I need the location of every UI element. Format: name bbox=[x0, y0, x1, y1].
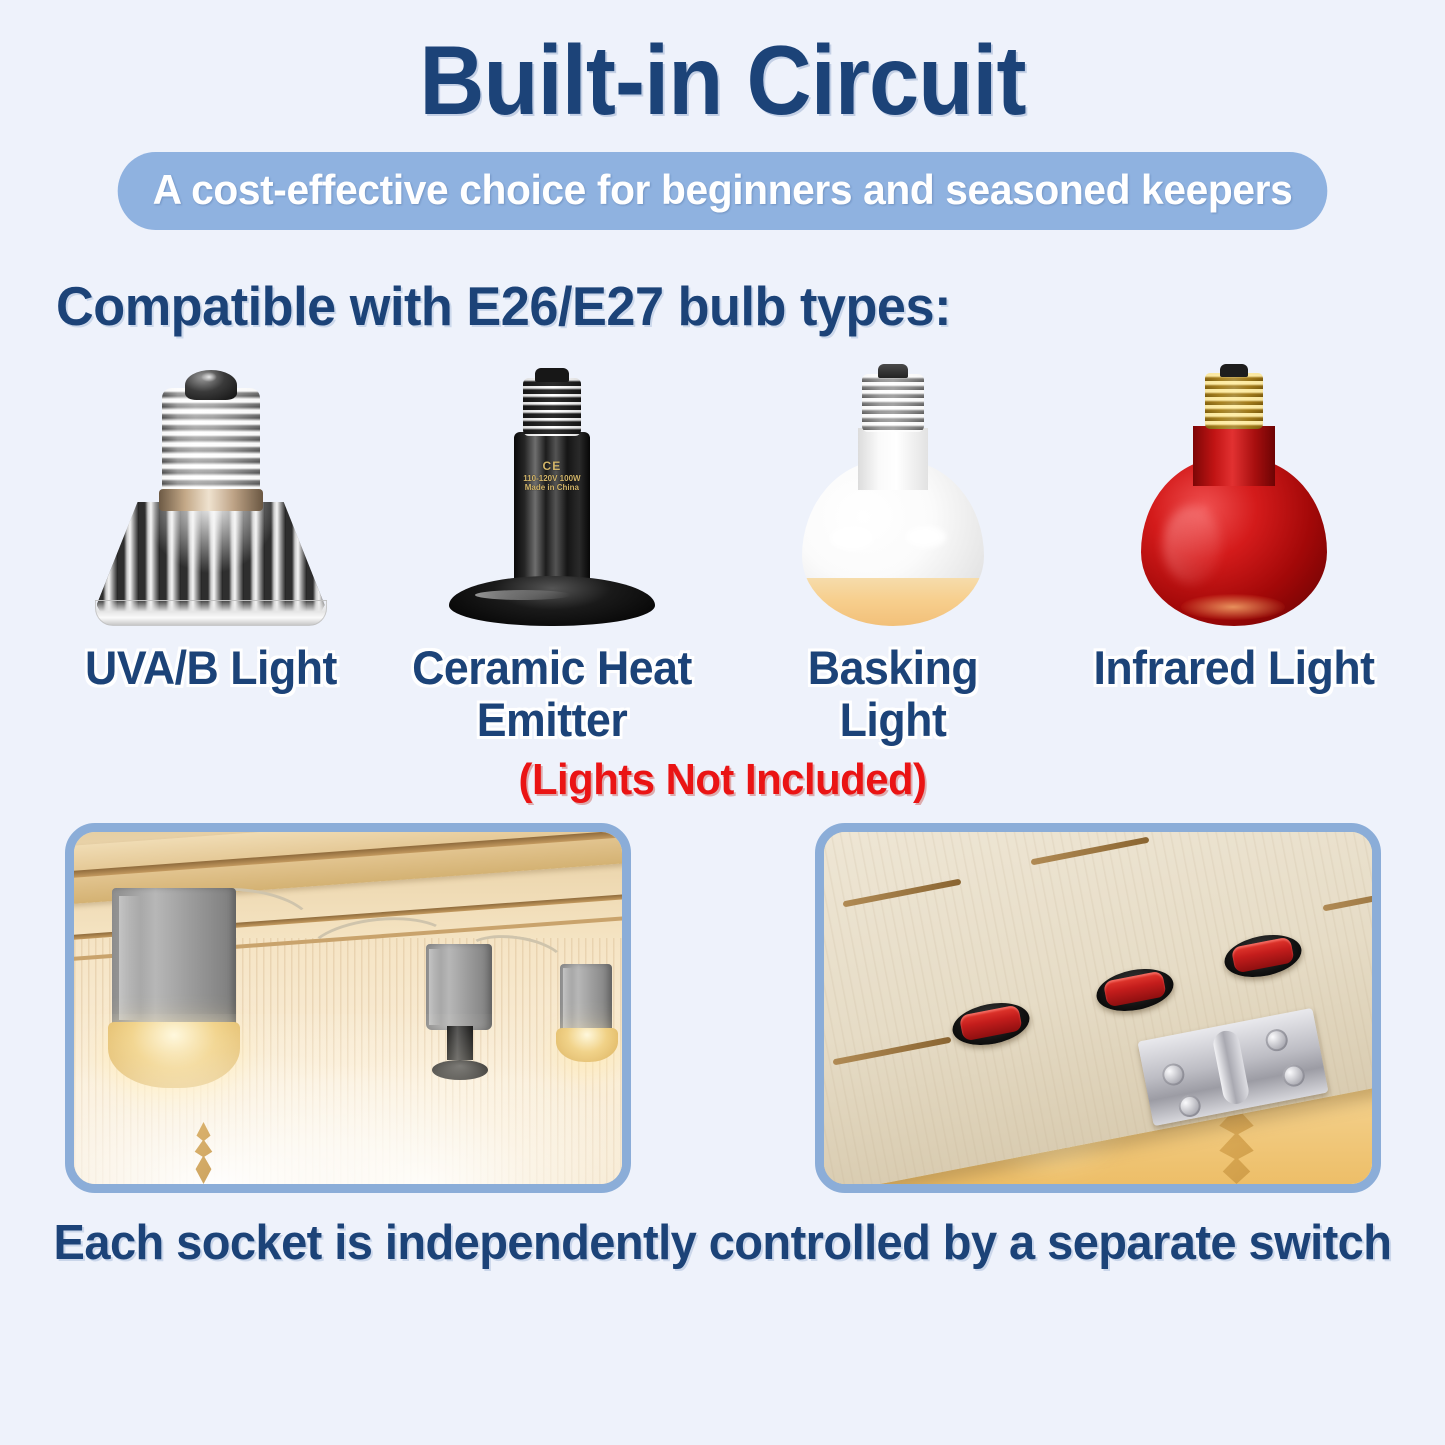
bulb-glass-rim-icon bbox=[95, 600, 327, 626]
sockets-under-enclosure-ceiling-photo bbox=[65, 823, 631, 1193]
bulb-cell-ceramic: CE 110-120V 100W Made in China bbox=[402, 356, 702, 626]
bulb-label-uva: UVA/B Light bbox=[68, 642, 353, 695]
header: Built-in Circuit A cost-effective choice… bbox=[0, 0, 1445, 230]
bulb-neck-icon bbox=[858, 428, 928, 490]
footer-caption: Each socket is independently controlled … bbox=[29, 1215, 1416, 1271]
glass-highlight-icon bbox=[1163, 506, 1221, 584]
light-glow bbox=[74, 1014, 622, 1184]
hinge-pin bbox=[1211, 1029, 1251, 1107]
e27-screw-base-icon bbox=[523, 378, 581, 436]
ceramic-heat-emitter-icon: CE 110-120V 100W Made in China bbox=[437, 368, 667, 626]
subtitle-banner: A cost-effective choice for beginners an… bbox=[118, 152, 1328, 230]
warm-glow-icon bbox=[802, 578, 984, 626]
infrared-bulb-icon bbox=[1142, 364, 1327, 626]
bulb-contact-tip-icon bbox=[878, 364, 908, 378]
photo-row bbox=[0, 823, 1445, 1193]
hinge-screw bbox=[1263, 1027, 1289, 1053]
subtitle-container: A cost-effective choice for beginners an… bbox=[0, 152, 1445, 230]
basking-bulb-icon bbox=[801, 364, 986, 626]
e27-brass-screw-base-icon bbox=[1205, 373, 1263, 429]
compatibility-heading: Compatible with E26/E27 bulb types: bbox=[56, 274, 1376, 338]
bulb-cell-infrared bbox=[1084, 356, 1384, 626]
photo-scene-left bbox=[74, 832, 622, 1184]
glass-highlight-icon bbox=[906, 526, 946, 548]
bulb-contact-tip-icon bbox=[1220, 364, 1248, 377]
bulb-illustration-row: CE 110-120V 100W Made in China bbox=[0, 356, 1445, 626]
emitter-rating-label: 110-120V 100W bbox=[516, 474, 588, 483]
emitter-markings: CE 110-120V 100W Made in China bbox=[516, 460, 588, 492]
emitter-origin-label: Made in China bbox=[516, 483, 588, 492]
hinge-screw bbox=[1280, 1063, 1306, 1089]
filament-glow-icon bbox=[1181, 594, 1285, 620]
e27-screw-base-icon bbox=[862, 374, 924, 432]
ce-mark-label: CE bbox=[516, 460, 588, 474]
lamp-socket bbox=[112, 888, 236, 1028]
bulb-contact-tip-icon bbox=[185, 370, 237, 400]
page-title: Built-in Circuit bbox=[58, 0, 1387, 136]
bulb-label-infrared: Infrared Light bbox=[1092, 642, 1377, 695]
bulb-neck-icon bbox=[1193, 426, 1275, 486]
bulb-collar-icon bbox=[159, 489, 263, 511]
lights-not-included-disclaimer: (Lights Not Included) bbox=[36, 755, 1409, 805]
bulb-contact-tip-icon bbox=[535, 368, 569, 382]
emitter-body-icon bbox=[514, 432, 590, 582]
bulb-label-basking: Basking Light bbox=[751, 642, 1036, 747]
switch-panel-with-hinge-photo bbox=[815, 823, 1381, 1193]
bulb-cell-basking bbox=[743, 356, 1043, 626]
bulb-label-row: UVA/B Light Ceramic Heat Emitter Basking… bbox=[0, 642, 1445, 747]
bulb-cell-uva bbox=[61, 356, 361, 626]
hinge-screw bbox=[1160, 1062, 1186, 1088]
uva-reflector-bulb-icon bbox=[96, 366, 326, 626]
e27-screw-base-icon bbox=[162, 388, 260, 493]
photo-scene-right bbox=[824, 832, 1372, 1184]
emitter-flange-base-icon bbox=[449, 576, 655, 626]
hinge-screw bbox=[1176, 1093, 1202, 1119]
glass-highlight-icon bbox=[830, 526, 874, 550]
bulb-label-ceramic: Ceramic Heat Emitter bbox=[409, 642, 694, 747]
